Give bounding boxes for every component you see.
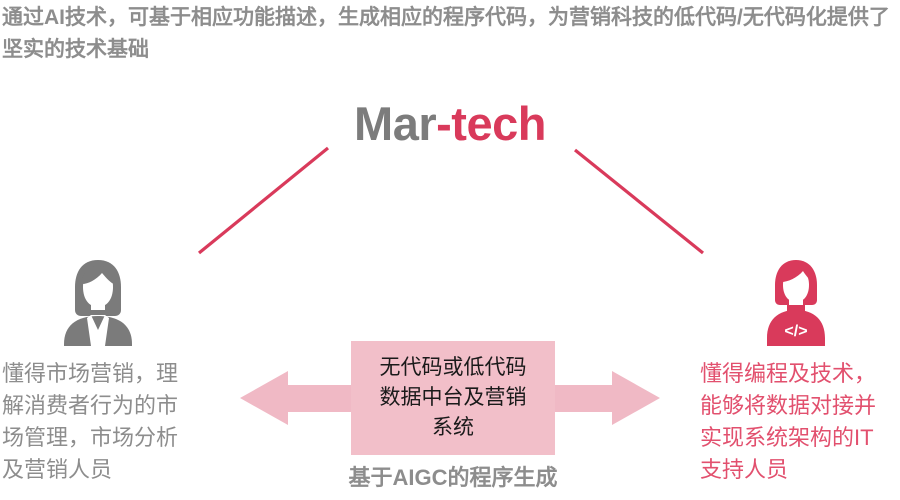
developer-laptop-icon: </> [750,258,842,346]
persona-marketer: 懂得市场营销，理 解消费者行为的市 场管理，市场分析 及营销人员 [0,258,215,486]
slide-canvas: 通过AI技术，可基于相应功能描述，生成相应的程序代码，为营销科技的低代码/无代码… [0,0,900,500]
code-glyph: </> [784,323,807,340]
center-caption: 基于AIGC的程序生成 [280,463,626,493]
businesswoman-icon [52,258,144,346]
persona-developer-description: 懂得编程及技术， 能够将数据对接并 实现系统架构的IT 支持人员 [694,358,900,486]
center-solution-text: 无代码或低代码 数据中台及营销 系统 [380,353,527,443]
center-solution-box: 无代码或低代码 数据中台及营销 系统 [351,341,555,455]
persona-marketer-description: 懂得市场营销，理 解消费者行为的市 场管理，市场分析 及营销人员 [0,358,215,486]
persona-developer: </> 懂得编程及技术， 能够将数据对接并 实现系统架构的IT 支持人员 [694,258,900,486]
